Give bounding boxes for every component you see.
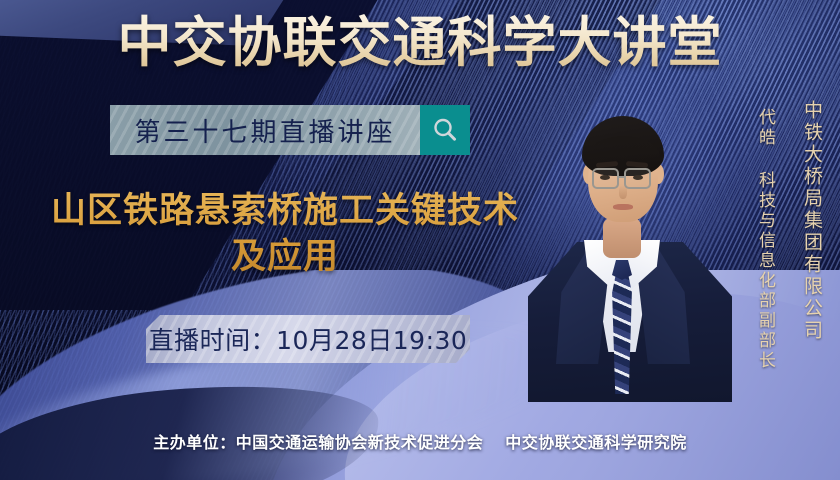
glasses-bridge [619, 176, 625, 178]
speaker-portrait [520, 92, 740, 392]
portrait-nose [619, 185, 627, 199]
live-time-bar: 直播时间：10月28日19:30 [146, 315, 470, 363]
episode-label: 第三十七期直播讲座 [134, 112, 395, 149]
live-time-text: 直播时间：10月28日19:30 [149, 321, 468, 357]
portrait-mouth [613, 204, 633, 210]
footer-organizers: 主办单位：中国交通运输协会新技术促进分会中交协联交通科学研究院 [0, 429, 840, 453]
episode-banner: 第三十七期直播讲座 [110, 105, 420, 155]
live-lecture-poster: 中交协联交通科学大讲堂 第三十七期直播讲座 山区铁路悬索桥施工关键技术 及应用 … [0, 0, 840, 480]
search-icon [430, 115, 460, 145]
footer-organizer-2: 中交协联交通科学研究院 [505, 433, 687, 452]
portrait-neck [603, 218, 641, 258]
search-icon-box[interactable] [420, 105, 470, 155]
glasses-lens-left [592, 168, 619, 189]
lecture-title-line-1: 山区铁路悬索桥施工关键技术 [20, 188, 550, 234]
footer-prefix: 主办单位： [153, 433, 236, 452]
speaker-name-title: 代皓 科技与信息化部副部长 [753, 108, 778, 371]
lecture-title-line-2: 及应用 [20, 234, 550, 280]
speaker-company: 中铁大桥局集团有限公司 [799, 100, 826, 342]
footer-organizer-1: 中国交通运输协会新技术促进分会 [236, 433, 484, 452]
main-title: 中交协联交通科学大讲堂 [0, 13, 840, 72]
lecture-title: 山区铁路悬索桥施工关键技术 及应用 [20, 188, 550, 280]
glasses-lens-right [624, 168, 651, 189]
